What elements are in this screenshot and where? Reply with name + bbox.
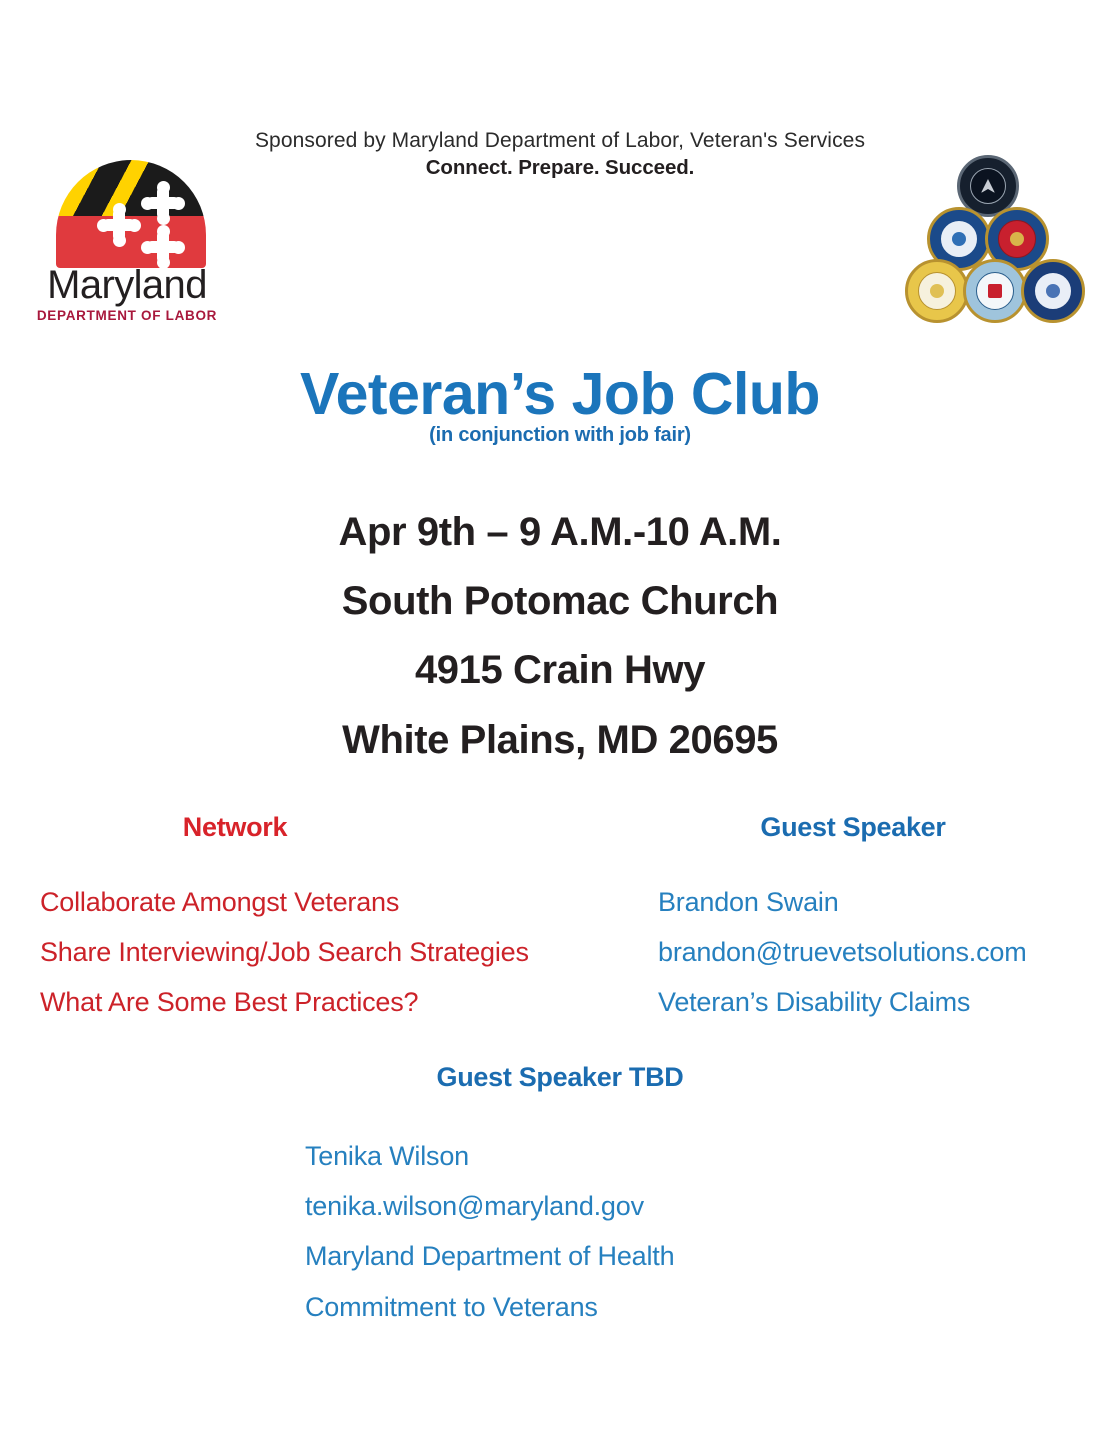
event-datetime: Apr 9th – 9 A.M.-10 A.M. [0, 498, 1120, 567]
tbd-speaker-topic: Commitment to Veterans [305, 1282, 1120, 1332]
flyer-page: Sponsored by Maryland Department of Labo… [0, 0, 1120, 1449]
guest-speaker-tbd-heading: Guest Speaker TBD [0, 1062, 1120, 1093]
event-street: 4915 Crain Hwy [0, 636, 1120, 705]
sponsor-line: Sponsored by Maryland Department of Labo… [0, 128, 1120, 154]
page-subtitle: (in conjunction with job fair) [0, 424, 1120, 447]
tbd-speaker-organization: Maryland Department of Health [305, 1231, 1120, 1281]
network-item: Collaborate Amongst Veterans [40, 877, 580, 927]
logo-subwordmark: DEPARTMENT OF LABOR [18, 308, 236, 323]
guest-speaker-heading: Guest Speaker [658, 812, 1048, 843]
network-item: What Are Some Best Practices? [40, 977, 580, 1027]
maryland-arch-icon [56, 160, 206, 268]
coast-guard-seal [963, 259, 1027, 323]
guest-speaker-column: Guest Speaker Brandon Swain brandon@true… [658, 812, 1078, 1028]
tbd-speaker-name: Tenika Wilson [305, 1131, 1120, 1181]
event-details: Apr 9th – 9 A.M.-10 A.M. South Potomac C… [0, 498, 1120, 775]
air-force-seal [1021, 259, 1085, 323]
guest-speaker-email[interactable]: brandon@truevetsolutions.com [658, 927, 1078, 977]
event-venue: South Potomac Church [0, 567, 1120, 636]
guest-speaker-name: Brandon Swain [658, 877, 1078, 927]
event-city-state-zip: White Plains, MD 20695 [0, 706, 1120, 775]
cross-bottony-icon [102, 208, 136, 242]
guest-speaker-topic: Veteran’s Disability Claims [658, 977, 1078, 1027]
cross-bottony-icon [146, 186, 180, 220]
military-service-seals [905, 155, 1090, 335]
network-heading: Network [40, 812, 430, 843]
network-column: Network Collaborate Amongst Veterans Sha… [40, 812, 580, 1028]
army-seal [905, 259, 969, 323]
cross-bottony-icon [146, 230, 180, 264]
page-title: Veteran’s Job Club [0, 362, 1120, 427]
network-item: Share Interviewing/Job Search Strategies [40, 927, 580, 977]
maryland-department-of-labor-logo: Maryland DEPARTMENT OF LABOR [18, 160, 236, 325]
guest-speaker-tbd-section: Guest Speaker TBD Tenika Wilson tenika.w… [0, 1062, 1120, 1332]
tbd-speaker-email[interactable]: tenika.wilson@maryland.gov [305, 1181, 1120, 1231]
logo-wordmark: Maryland [18, 264, 236, 306]
